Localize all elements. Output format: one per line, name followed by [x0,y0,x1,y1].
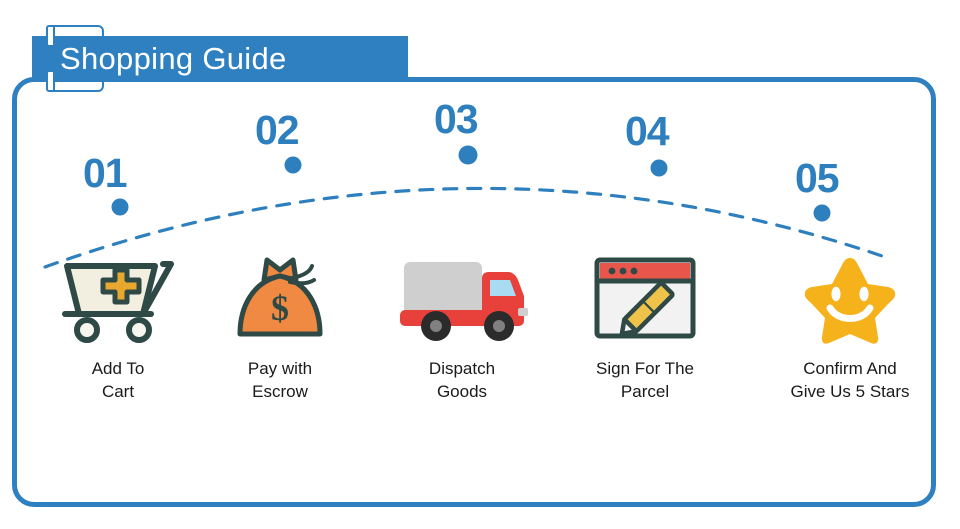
step-number-2: 02 [255,107,299,154]
step-icon-5 [760,248,940,344]
step-number-3: 03 [434,96,478,143]
step-label-3: Dispatch Goods [372,358,552,404]
step-item-2: $ Pay with Escrow [190,248,370,404]
delivery-truck-icon [394,252,530,344]
shopping-guide-infographic: Shopping Guide 01 02 03 04 05 Add To Car… [0,0,960,529]
page-title: Shopping Guide [60,36,287,82]
step-item-3: Dispatch Goods [372,248,552,404]
step-label-2: Pay with Escrow [190,358,370,404]
banner-ribbon: Shopping Guide [22,22,422,92]
step-icon-4 [555,248,735,344]
svg-text:$: $ [271,288,289,328]
step-item-1: Add To Cart [28,248,208,404]
ribbon-nub-top [46,25,55,47]
step-number-4: 04 [625,108,669,155]
step-number-5: 05 [795,155,839,202]
shopping-cart-icon [59,252,177,344]
step-label-4: Sign For The Parcel [555,358,735,404]
step-item-5: Confirm And Give Us 5 Stars [760,248,940,404]
step-icon-1 [28,248,208,344]
ribbon-nub-bottom [46,70,55,92]
step-label-5: Confirm And Give Us 5 Stars [760,358,940,404]
step-item-4: Sign For The Parcel [555,248,735,404]
smiling-star-icon [798,252,902,344]
step-label-1: Add To Cart [28,358,208,404]
step-number-1: 01 [83,150,127,197]
step-icon-3 [372,248,552,344]
step-icon-2: $ [190,248,370,344]
sign-document-icon [591,252,699,344]
money-bag-icon: $ [230,252,330,344]
